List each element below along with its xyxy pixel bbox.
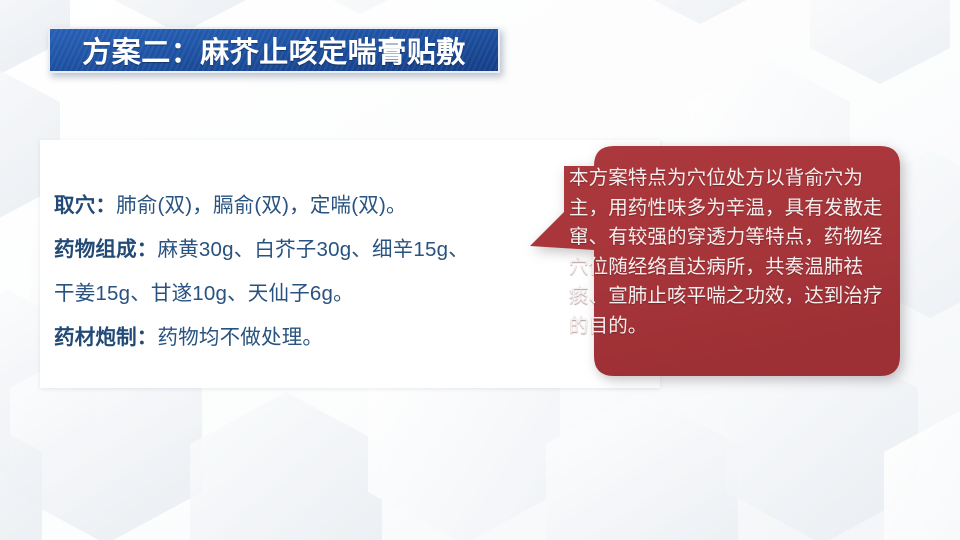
content-line-label: 药物组成： bbox=[54, 238, 158, 261]
content-line-label: 取穴： bbox=[54, 194, 116, 217]
content-line-value: 干姜15g、甘遂10g、天仙子6g。 bbox=[54, 282, 354, 305]
content-line-value: 药物均不做处理。 bbox=[158, 326, 324, 349]
callout-text: 本方案特点为穴位处方以背俞穴为主，用药性味多为辛温，具有发散走窜、有较强的穿透力… bbox=[569, 164, 889, 341]
callout-bubble: 本方案特点为穴位处方以背俞穴为主，用药性味多为辛温，具有发散走窜、有较强的穿透力… bbox=[522, 138, 910, 384]
content-line-value: 肺俞(双)，膈俞(双)，定喘(双)。 bbox=[116, 194, 407, 217]
slide-root: 方案二：麻芥止咳定喘膏贴敷 取穴：肺俞(双)，膈俞(双)，定喘(双)。 药物组成… bbox=[0, 0, 960, 540]
content-line-label: 药材炮制： bbox=[54, 326, 158, 349]
page-title: 方案二：麻芥止咳定喘膏贴敷 bbox=[82, 29, 466, 71]
slide-title-banner: 方案二：麻芥止咳定喘膏贴敷 bbox=[48, 27, 500, 73]
content-line-value: 麻黄30g、白芥子30g、细辛15g、 bbox=[158, 238, 469, 261]
